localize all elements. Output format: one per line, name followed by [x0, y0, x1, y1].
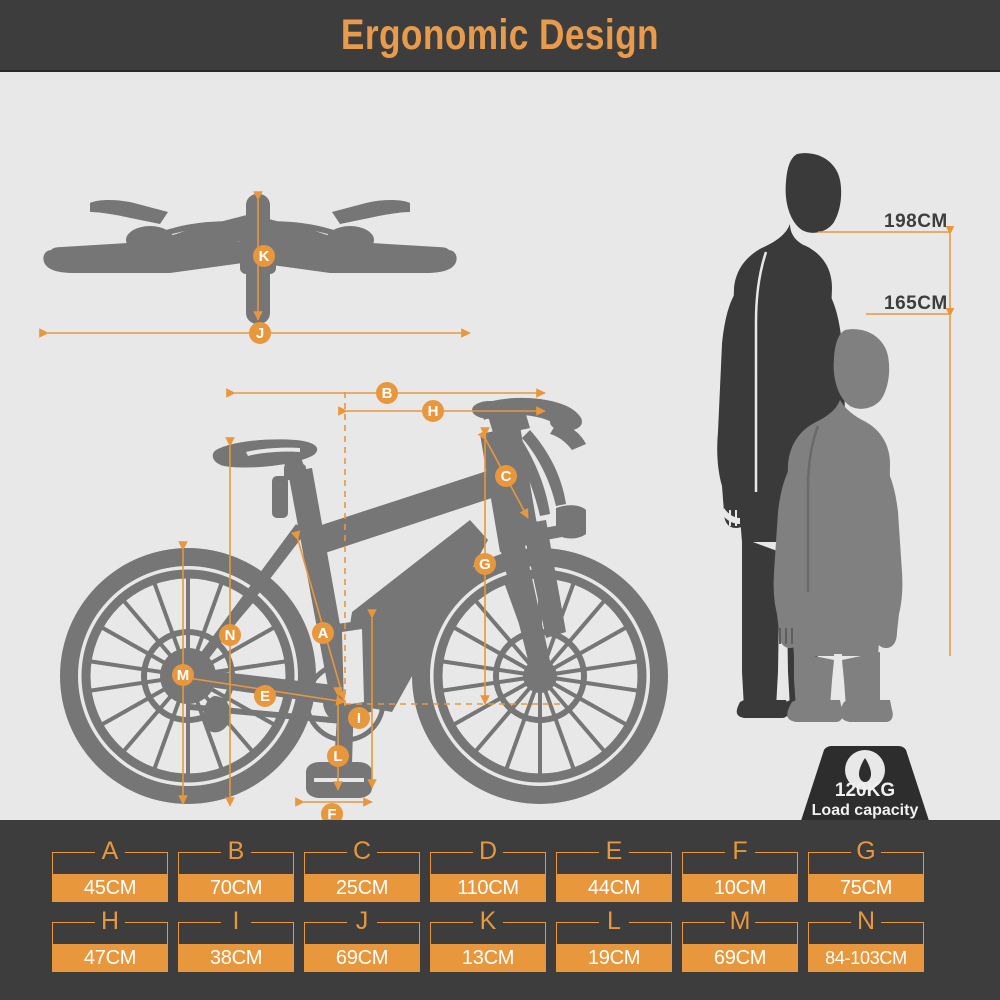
spec-cell-d: D110CM — [430, 842, 546, 902]
spec-cell-letter: B — [178, 838, 294, 864]
dimension-marker-H: H — [422, 400, 444, 422]
load-capacity-weight: 120KG — [800, 780, 930, 802]
spec-cell-k: K13CM — [430, 912, 546, 972]
spec-cell-g: G75CM — [808, 842, 924, 902]
spec-cell-value: 45CM — [52, 874, 168, 902]
spec-cell-letter: G — [808, 838, 924, 864]
dimension-marker-A: A — [312, 622, 334, 644]
spec-cell-letter: D — [430, 838, 546, 864]
spec-cell-a: A45CM — [52, 842, 168, 902]
dimension-marker-M: M — [172, 664, 194, 686]
spec-cell-f: F10CM — [682, 842, 798, 902]
page-title: Ergonomic Design — [341, 11, 659, 60]
spec-cell-letter: C — [304, 838, 420, 864]
spec-cell-letter: A — [52, 838, 168, 864]
dimension-marker-J: J — [249, 322, 271, 344]
spec-cell-letter: I — [178, 908, 294, 934]
spec-cell-n: N84-103CM — [808, 912, 924, 972]
spec-cell-value: 13CM — [430, 944, 546, 972]
dimension-marker-K: K — [253, 245, 275, 267]
spec-cell-letter: L — [556, 908, 672, 934]
page-header: Ergonomic Design — [0, 0, 1000, 72]
spec-table-row-2: H47CMI38CMJ69CMK13CML19CMM69CMN84-103CM — [0, 912, 1000, 990]
dimension-marker-G: G — [474, 553, 496, 575]
spec-cell-letter: J — [304, 908, 420, 934]
spec-cell-j: J69CM — [304, 912, 420, 972]
load-capacity-caption: Load capacity — [800, 802, 930, 820]
dimension-marker-L: L — [327, 745, 349, 767]
spec-cell-b: B70CM — [178, 842, 294, 902]
handlebar-silhouette — [43, 194, 456, 324]
dimension-marker-B: B — [376, 382, 398, 404]
spec-cell-value: 47CM — [52, 944, 168, 972]
spec-cell-value: 38CM — [178, 944, 294, 972]
spec-cell-value: 84-103CM — [808, 944, 924, 972]
bicycle-dimension-diagram — [0, 72, 1000, 820]
dimension-marker-I: I — [348, 707, 370, 729]
spec-cell-letter: E — [556, 838, 672, 864]
height-label-165: 165CM — [884, 293, 948, 315]
dimension-spec-table: A45CMB70CMC25CMD110CME44CMF10CMG75CM H47… — [0, 820, 1000, 1000]
dimension-marker-C: C — [495, 465, 517, 487]
dimension-marker-N: N — [219, 624, 241, 646]
spec-cell-c: C25CM — [304, 842, 420, 902]
spec-cell-value: 44CM — [556, 874, 672, 902]
spec-cell-letter: F — [682, 838, 798, 864]
spec-cell-letter: N — [808, 908, 924, 934]
spec-cell-value: 19CM — [556, 944, 672, 972]
diagram-canvas: K J B H C G N A M E I L F D 198CM 165CM … — [0, 72, 1000, 820]
dimension-marker-E: E — [254, 685, 276, 707]
height-label-198: 198CM — [884, 211, 948, 233]
spec-cell-e: E44CM — [556, 842, 672, 902]
spec-cell-value: 69CM — [682, 944, 798, 972]
spec-cell-value: 75CM — [808, 874, 924, 902]
spec-cell-letter: K — [430, 908, 546, 934]
spec-cell-i: I38CM — [178, 912, 294, 972]
spec-cell-value: 70CM — [178, 874, 294, 902]
spec-cell-value: 25CM — [304, 874, 420, 902]
spec-cell-h: H47CM — [52, 912, 168, 972]
spec-cell-value: 10CM — [682, 874, 798, 902]
spec-cell-letter: M — [682, 908, 798, 934]
spec-cell-value: 110CM — [430, 874, 546, 902]
spec-cell-l: L19CM — [556, 912, 672, 972]
spec-cell-m: M69CM — [682, 912, 798, 972]
bicycle-silhouette — [60, 398, 668, 804]
spec-cell-value: 69CM — [304, 944, 420, 972]
spec-cell-letter: H — [52, 908, 168, 934]
